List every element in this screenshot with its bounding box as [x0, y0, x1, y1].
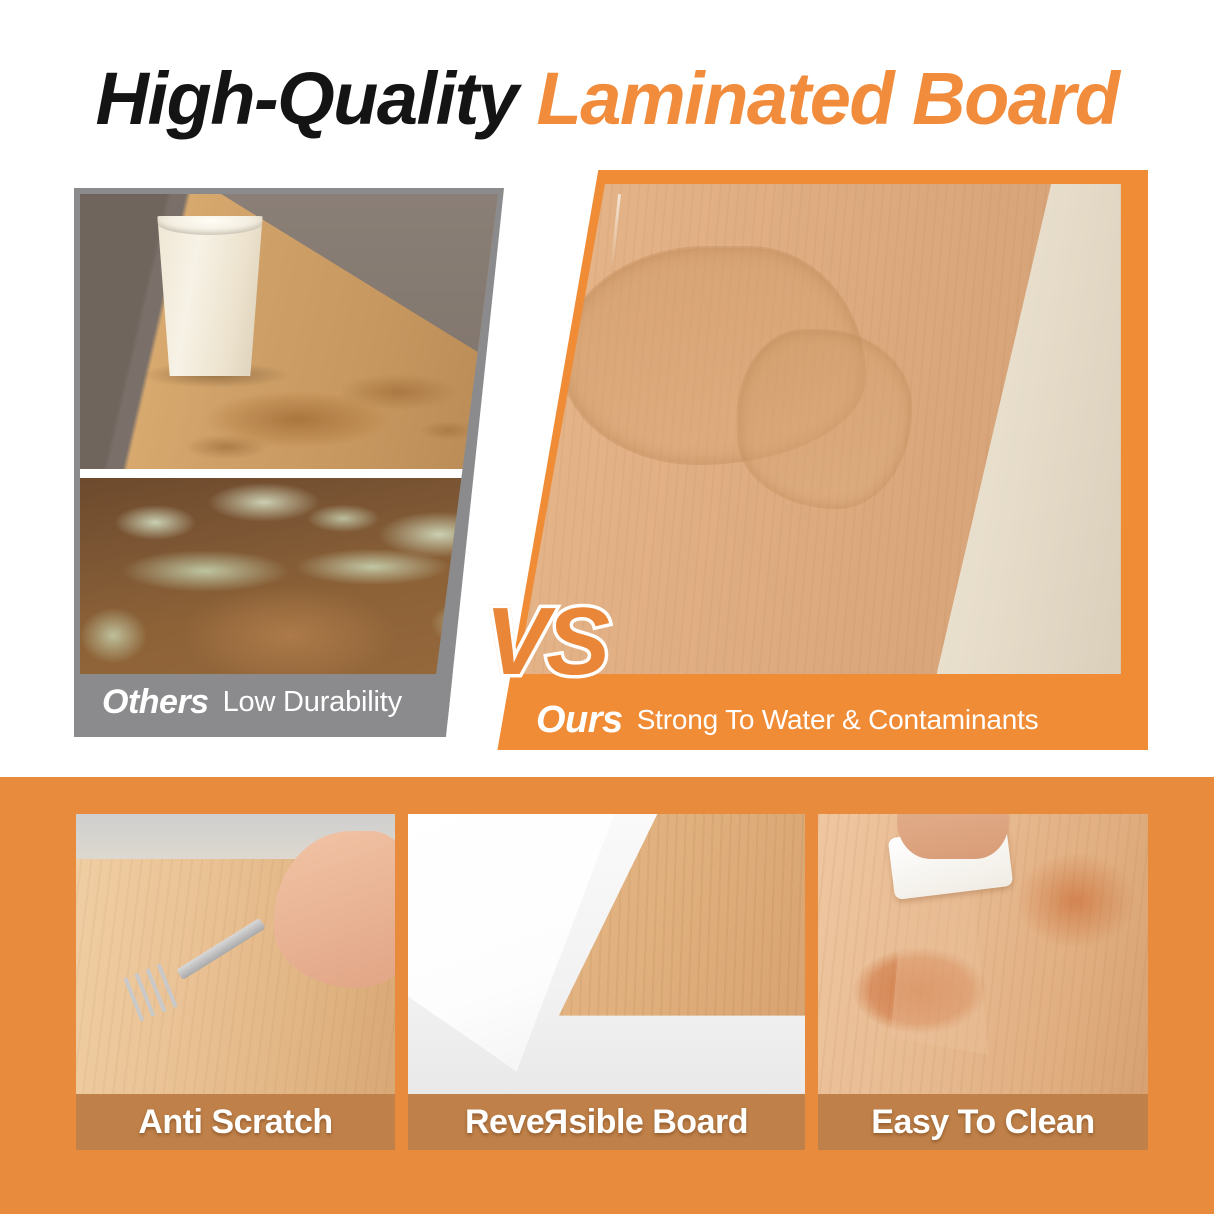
others-photo-stack	[80, 194, 498, 680]
features-band: Anti Scratch ReveRsible Board	[0, 777, 1214, 1214]
infographic-root: High-Quality Laminated Board Others Low …	[0, 0, 1214, 1214]
mold-photo	[80, 478, 498, 680]
feature-tile-anti-scratch: Anti Scratch	[76, 814, 395, 1150]
water-bead-small	[739, 331, 910, 507]
sauce-stain-small	[1016, 853, 1135, 948]
title-orange-part: Laminated Board	[537, 57, 1119, 140]
comparison-section: Others Low Durability Ours Strong To Wat…	[0, 170, 1214, 760]
coffee-spill-photo	[80, 194, 498, 469]
vs-badge-outline: VS	[485, 594, 607, 690]
page-title: High-Quality Laminated Board	[0, 62, 1214, 136]
anti-scratch-photo	[76, 814, 395, 1094]
others-card: Others Low Durability	[74, 188, 504, 737]
anti-scratch-caption: Anti Scratch	[138, 1103, 332, 1142]
hand-icon	[897, 814, 1009, 859]
others-label-bar: Others Low Durability	[80, 674, 498, 731]
others-description: Low Durability	[223, 686, 402, 719]
feature-tile-easy-clean: Easy To Clean	[818, 814, 1148, 1150]
feature-tile-reversible: ReveRsible Board	[408, 814, 805, 1150]
paper-cup	[154, 216, 266, 376]
reversible-caption-mirrored-r: R	[544, 1103, 568, 1142]
anti-scratch-caption-bar: Anti Scratch	[76, 1094, 395, 1150]
ours-label-bar: Ours Strong To Water & Contaminants	[476, 690, 1148, 750]
ours-brand-label: Ours	[536, 699, 623, 742]
photo-divider	[80, 469, 498, 478]
reversible-caption-pre: Reve	[465, 1103, 544, 1141]
title-black-part: High-Quality	[96, 57, 518, 140]
easy-clean-caption-bar: Easy To Clean	[818, 1094, 1148, 1150]
reversible-board-photo	[408, 814, 805, 1094]
feature-tiles: Anti Scratch ReveRsible Board	[76, 814, 1148, 1150]
ours-description: Strong To Water & Contaminants	[637, 704, 1039, 736]
reversible-caption-bar: ReveRsible Board	[408, 1094, 805, 1150]
water-drip	[610, 194, 621, 272]
easy-to-clean-photo	[818, 814, 1148, 1094]
easy-clean-caption: Easy To Clean	[871, 1103, 1094, 1142]
hand-icon	[274, 831, 395, 988]
reversible-caption: ReveRsible Board	[465, 1103, 748, 1142]
others-brand-label: Others	[102, 683, 209, 722]
reversible-caption-post: sible Board	[568, 1103, 748, 1141]
fork-icon	[176, 918, 265, 980]
